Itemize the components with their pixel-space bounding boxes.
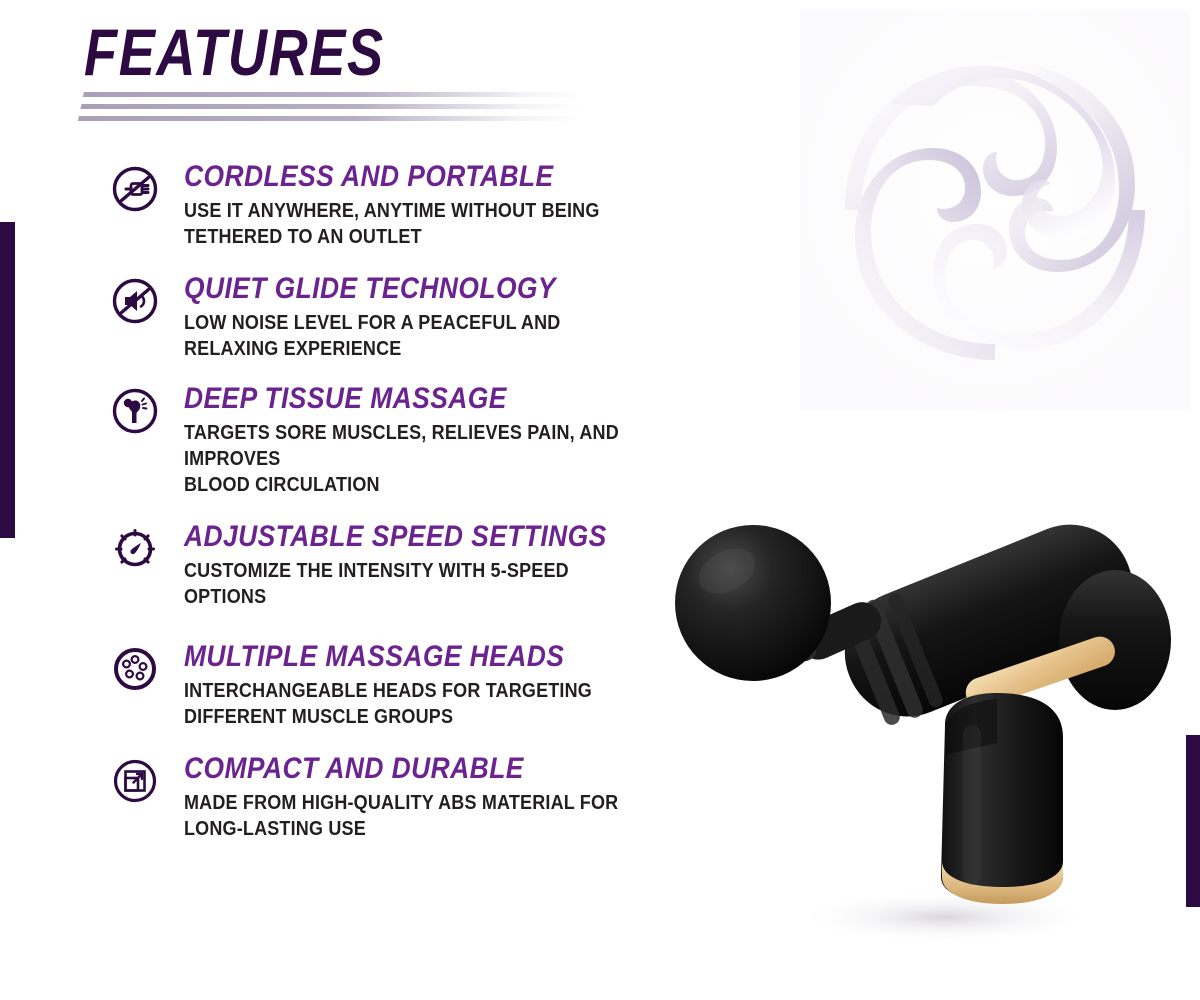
sore-muscle-icon (110, 386, 160, 436)
massage-gun-photo (645, 425, 1185, 945)
feature-item-deep-tissue-massage: DEEP TISSUE MASSAGE TARGETS SORE MUSCLES… (104, 382, 684, 498)
feature-item-compact-and-durable: COMPACT AND DURABLE MADE FROM HIGH-QUALI… (104, 752, 684, 842)
title-rule-3 (78, 116, 579, 121)
mute-speaker-icon (110, 276, 160, 326)
feature-title: ADJUSTABLE SPEED SETTINGS (184, 520, 624, 554)
feature-description: TARGETS SORE MUSCLES, RELIEVES PAIN, AND… (184, 420, 634, 498)
left-accent-bar (0, 222, 15, 538)
compact-resize-icon (110, 756, 160, 806)
feature-title: MULTIPLE MASSAGE HEADS (184, 640, 624, 674)
feature-title: DEEP TISSUE MASSAGE (184, 382, 624, 416)
title-rule-1 (83, 92, 584, 97)
feature-description: CUSTOMIZE THE INTENSITY WITH 5-SPEED OPT… (184, 558, 634, 610)
feature-item-cordless-and-portable: CORDLESS AND PORTABLE USE IT ANYWHERE, A… (104, 160, 684, 250)
no-plug-icon (110, 164, 160, 214)
feature-description: MADE FROM HIGH-QUALITY ABS MATERIAL FOR … (184, 790, 634, 842)
right-accent-bar (1186, 735, 1200, 907)
page-title: FEATURES (84, 16, 510, 88)
feature-title: CORDLESS AND PORTABLE (184, 160, 624, 194)
title-rule-2 (80, 104, 581, 109)
feature-description: USE IT ANYWHERE, ANYTIME WITHOUT BEING T… (184, 198, 634, 250)
feature-item-adjustable-speed-settings: ADJUSTABLE SPEED SETTINGS CUSTOMIZE THE … (104, 520, 684, 610)
abstract-swirl-graphic (800, 10, 1190, 410)
feature-title: COMPACT AND DURABLE (184, 752, 624, 786)
feature-title: QUIET GLIDE TECHNOLOGY (184, 272, 624, 306)
speed-gauge-icon (110, 524, 160, 574)
title-underline-rules (76, 92, 584, 128)
feature-description: INTERCHANGEABLE HEADS FOR TARGETING DIFF… (184, 678, 634, 730)
features-page: FEATURES CORDLES (0, 0, 1200, 1000)
feature-description: LOW NOISE LEVEL FOR A PEACEFUL AND RELAX… (184, 310, 634, 362)
title-block: FEATURES (84, 16, 604, 88)
massage-heads-icon (110, 644, 160, 694)
feature-list: CORDLESS AND PORTABLE USE IT ANYWHERE, A… (104, 160, 684, 842)
feature-item-quiet-glide-technology: QUIET GLIDE TECHNOLOGY LOW NOISE LEVEL F… (104, 272, 684, 362)
feature-item-multiple-massage-heads: MULTIPLE MASSAGE HEADS INTERCHANGEABLE H… (104, 640, 684, 730)
